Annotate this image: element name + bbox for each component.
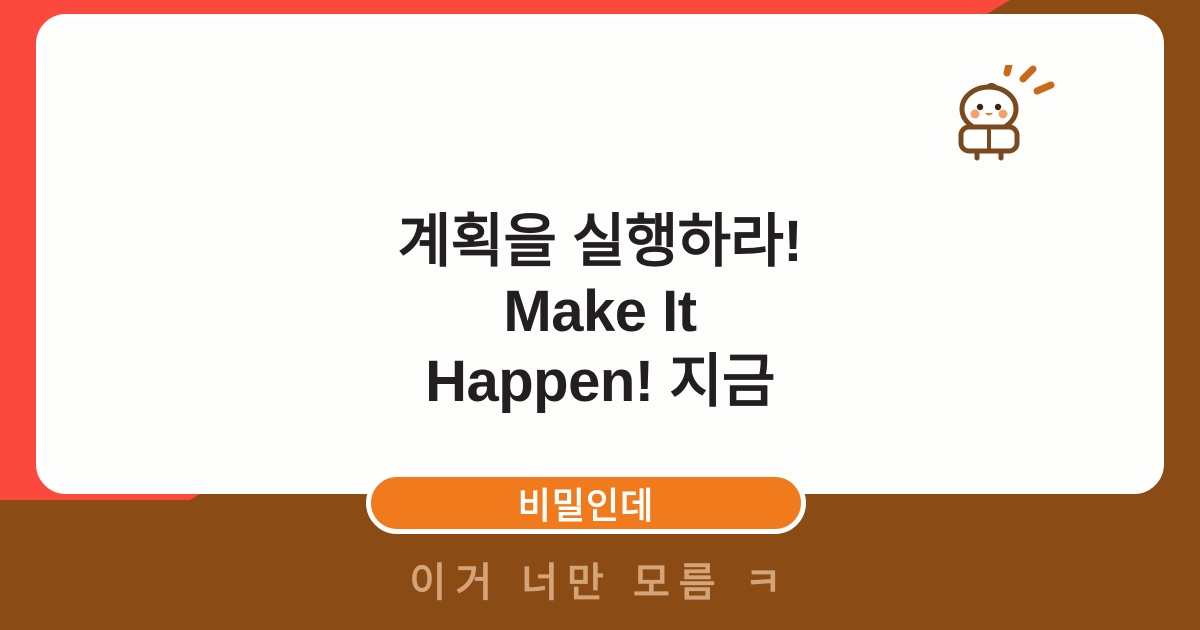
status-badge: 비밀인데 xyxy=(366,472,806,534)
status-badge-label: 비밀인데 xyxy=(518,477,654,529)
thumbnail-canvas: 계획을 실행하라! Make It Happen! 지금 xyxy=(0,0,1200,630)
page-title: 계획을 실행하라! Make It Happen! 지금 xyxy=(43,207,1157,417)
chick-character-icon xyxy=(949,65,1059,165)
footer-subtitle: 이거 너만 모름 ㅋ xyxy=(0,550,1200,608)
content-card: 계획을 실행하라! Make It Happen! 지금 xyxy=(36,14,1164,494)
